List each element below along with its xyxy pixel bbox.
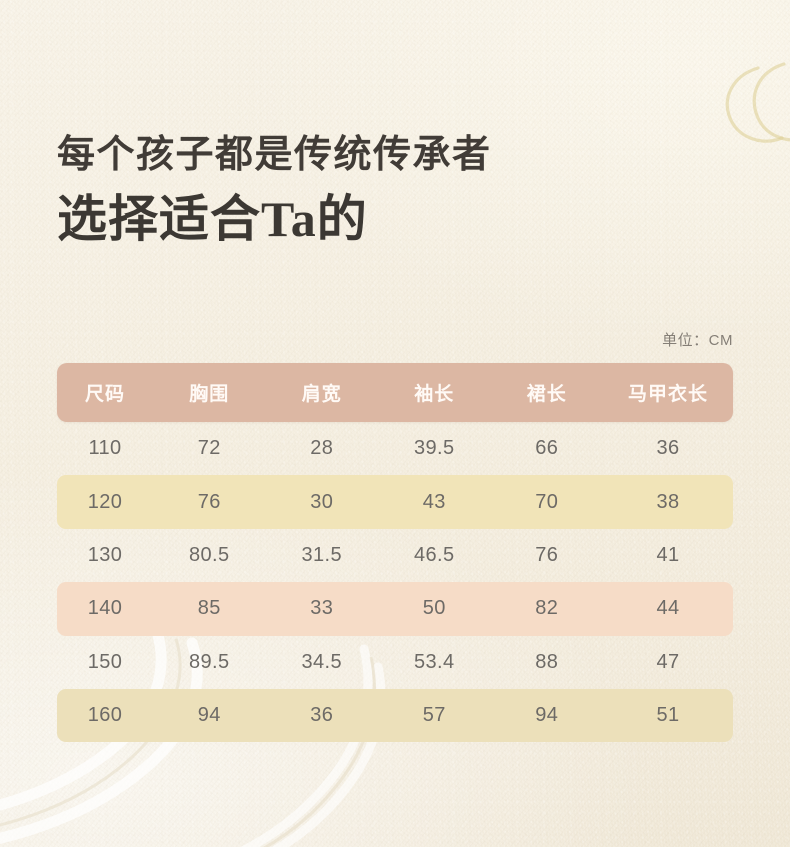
table-cell-value: 66 (491, 437, 604, 460)
table-column-header: 袖长 (378, 379, 491, 406)
table-cell-value: 80.5 (153, 544, 266, 567)
table-column-header: 胸围 (153, 379, 266, 406)
table-cell-value: 94 (491, 704, 604, 727)
table-cell-value: 53.4 (378, 651, 491, 674)
unit-label: 单位：CM (662, 329, 733, 350)
table-cell-value: 31.5 (266, 544, 379, 567)
table-cell-value: 41 (603, 544, 733, 567)
table-row: 13080.531.546.57641 (57, 529, 733, 582)
table-cell-value: 82 (491, 597, 604, 620)
headline-secondary: 选择适合Ta的 (57, 189, 717, 250)
table-row: 1207630437038 (57, 475, 733, 528)
table-cell-size: 140 (57, 597, 153, 620)
table-cell-value: 28 (266, 437, 379, 460)
table-cell-value: 85 (153, 597, 266, 620)
table-cell-size: 120 (57, 491, 153, 514)
headline-primary: 每个孩子都是传统传承者 (57, 133, 717, 177)
table-cell-size: 130 (57, 544, 153, 567)
table-cell-value: 57 (378, 704, 491, 727)
table-cell-value: 70 (491, 491, 604, 514)
table-cell-size: 110 (57, 437, 153, 460)
table-cell-value: 46.5 (378, 544, 491, 567)
table-cell-value: 76 (491, 544, 604, 567)
table-cell-value: 36 (266, 704, 379, 727)
table-column-header: 马甲衣长 (603, 379, 733, 406)
table-cell-value: 47 (603, 651, 733, 674)
table-cell-size: 150 (57, 651, 153, 674)
table-header-row: 尺码胸围肩宽袖长裙长马甲衣长 (57, 363, 733, 422)
page-background: 每个孩子都是传统传承者 选择适合Ta的 单位：CM 尺码胸围肩宽袖长裙长马甲衣长… (0, 0, 790, 847)
table-cell-value: 50 (378, 597, 491, 620)
headline-block: 每个孩子都是传统传承者 选择适合Ta的 (57, 133, 717, 250)
table-column-header: 裙长 (491, 379, 604, 406)
table-row: 1609436579451 (57, 689, 733, 742)
table-cell-value: 94 (153, 704, 266, 727)
table-cell-value: 43 (378, 491, 491, 514)
table-cell-value: 33 (266, 597, 379, 620)
table-cell-size: 160 (57, 704, 153, 727)
table-cell-value: 39.5 (378, 437, 491, 460)
table-cell-value: 51 (603, 704, 733, 727)
table-cell-value: 89.5 (153, 651, 266, 674)
table-cell-value: 34.5 (266, 651, 379, 674)
table-row: 15089.534.553.48847 (57, 636, 733, 689)
table-cell-value: 72 (153, 437, 266, 460)
table-cell-value: 30 (266, 491, 379, 514)
table-cell-value: 88 (491, 651, 604, 674)
table-row: 1408533508244 (57, 582, 733, 635)
table-cell-value: 38 (603, 491, 733, 514)
table-cell-value: 76 (153, 491, 266, 514)
table-cell-value: 44 (603, 597, 733, 620)
table-row: 110722839.56636 (57, 422, 733, 475)
table-column-header: 尺码 (57, 379, 153, 406)
size-chart-table: 尺码胸围肩宽袖长裙长马甲衣长 110722839.566361207630437… (57, 363, 733, 742)
table-cell-value: 36 (603, 437, 733, 460)
table-column-header: 肩宽 (266, 379, 379, 406)
